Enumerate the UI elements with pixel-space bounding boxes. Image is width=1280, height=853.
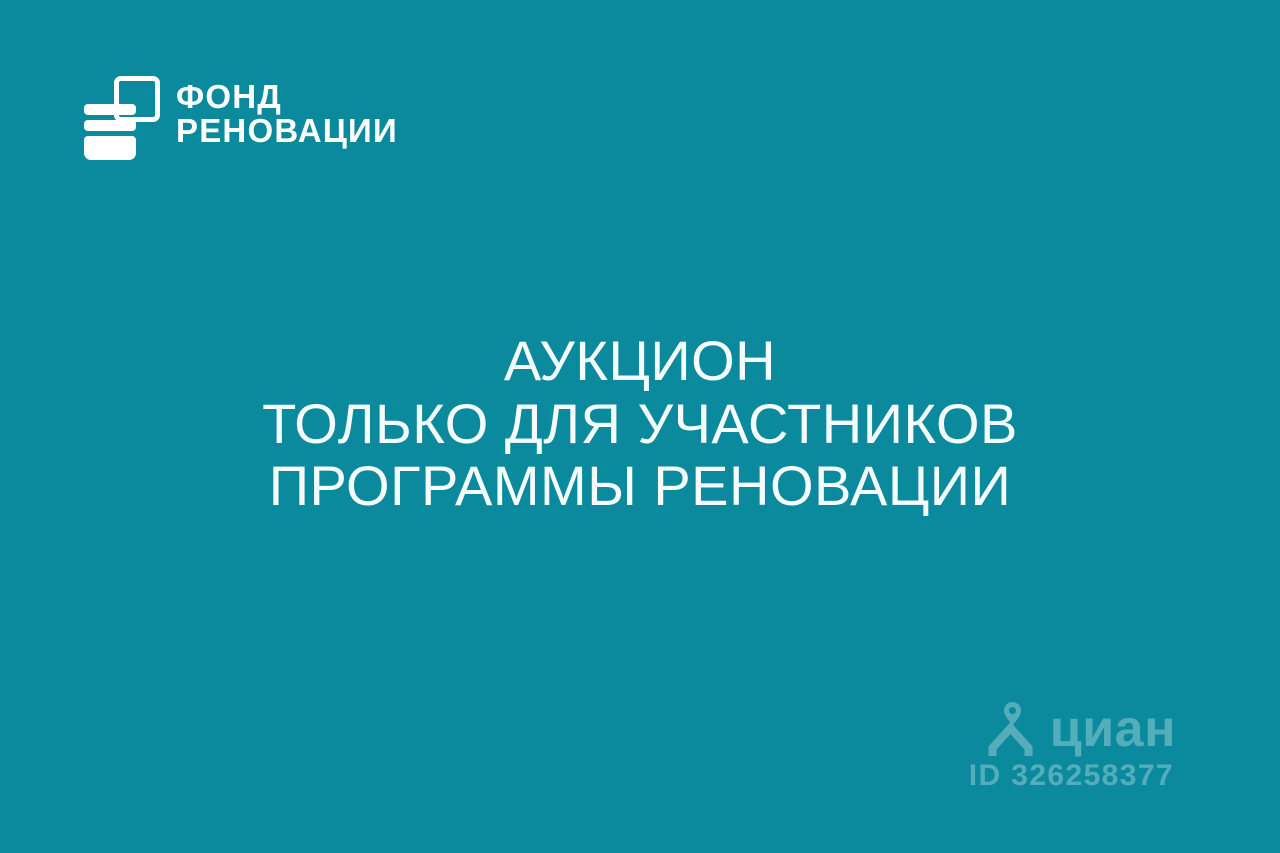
document-stack-shape [84, 104, 136, 160]
listing-image-poster: ФОНД РЕНОВАЦИИ АУКЦИОН ТОЛЬКО ДЛЯ УЧАСТН… [0, 0, 1280, 853]
headline-line-2: ТОЛЬКО ДЛЯ УЧАСТНИКОВ [0, 393, 1280, 456]
stacked-documents-icon [84, 68, 154, 160]
brand-name-line-1: ФОНД [176, 80, 398, 114]
headline-line-1: АУКЦИОН [0, 330, 1280, 393]
brand-logo: ФОНД РЕНОВАЦИИ [84, 68, 398, 160]
brand-wordmark: ФОНД РЕНОВАЦИИ [176, 80, 398, 149]
headline-block: АУКЦИОН ТОЛЬКО ДЛЯ УЧАСТНИКОВ ПРОГРАММЫ … [0, 330, 1280, 518]
cian-watermark-logo-row: циан [984, 700, 1176, 758]
cian-watermark-listing-id: ID 326258377 [969, 760, 1174, 792]
cian-watermark: циан ID 326258377 [969, 700, 1176, 792]
stack-bar-3 [84, 136, 136, 160]
brand-name-line-2: РЕНОВАЦИИ [176, 114, 398, 148]
stack-bar-1 [84, 104, 136, 115]
headline-line-3: ПРОГРАММЫ РЕНОВАЦИИ [0, 455, 1280, 518]
cian-watermark-name: циан [1050, 703, 1176, 755]
stack-bar-2 [84, 120, 136, 131]
cian-house-pin-icon [984, 700, 1040, 758]
